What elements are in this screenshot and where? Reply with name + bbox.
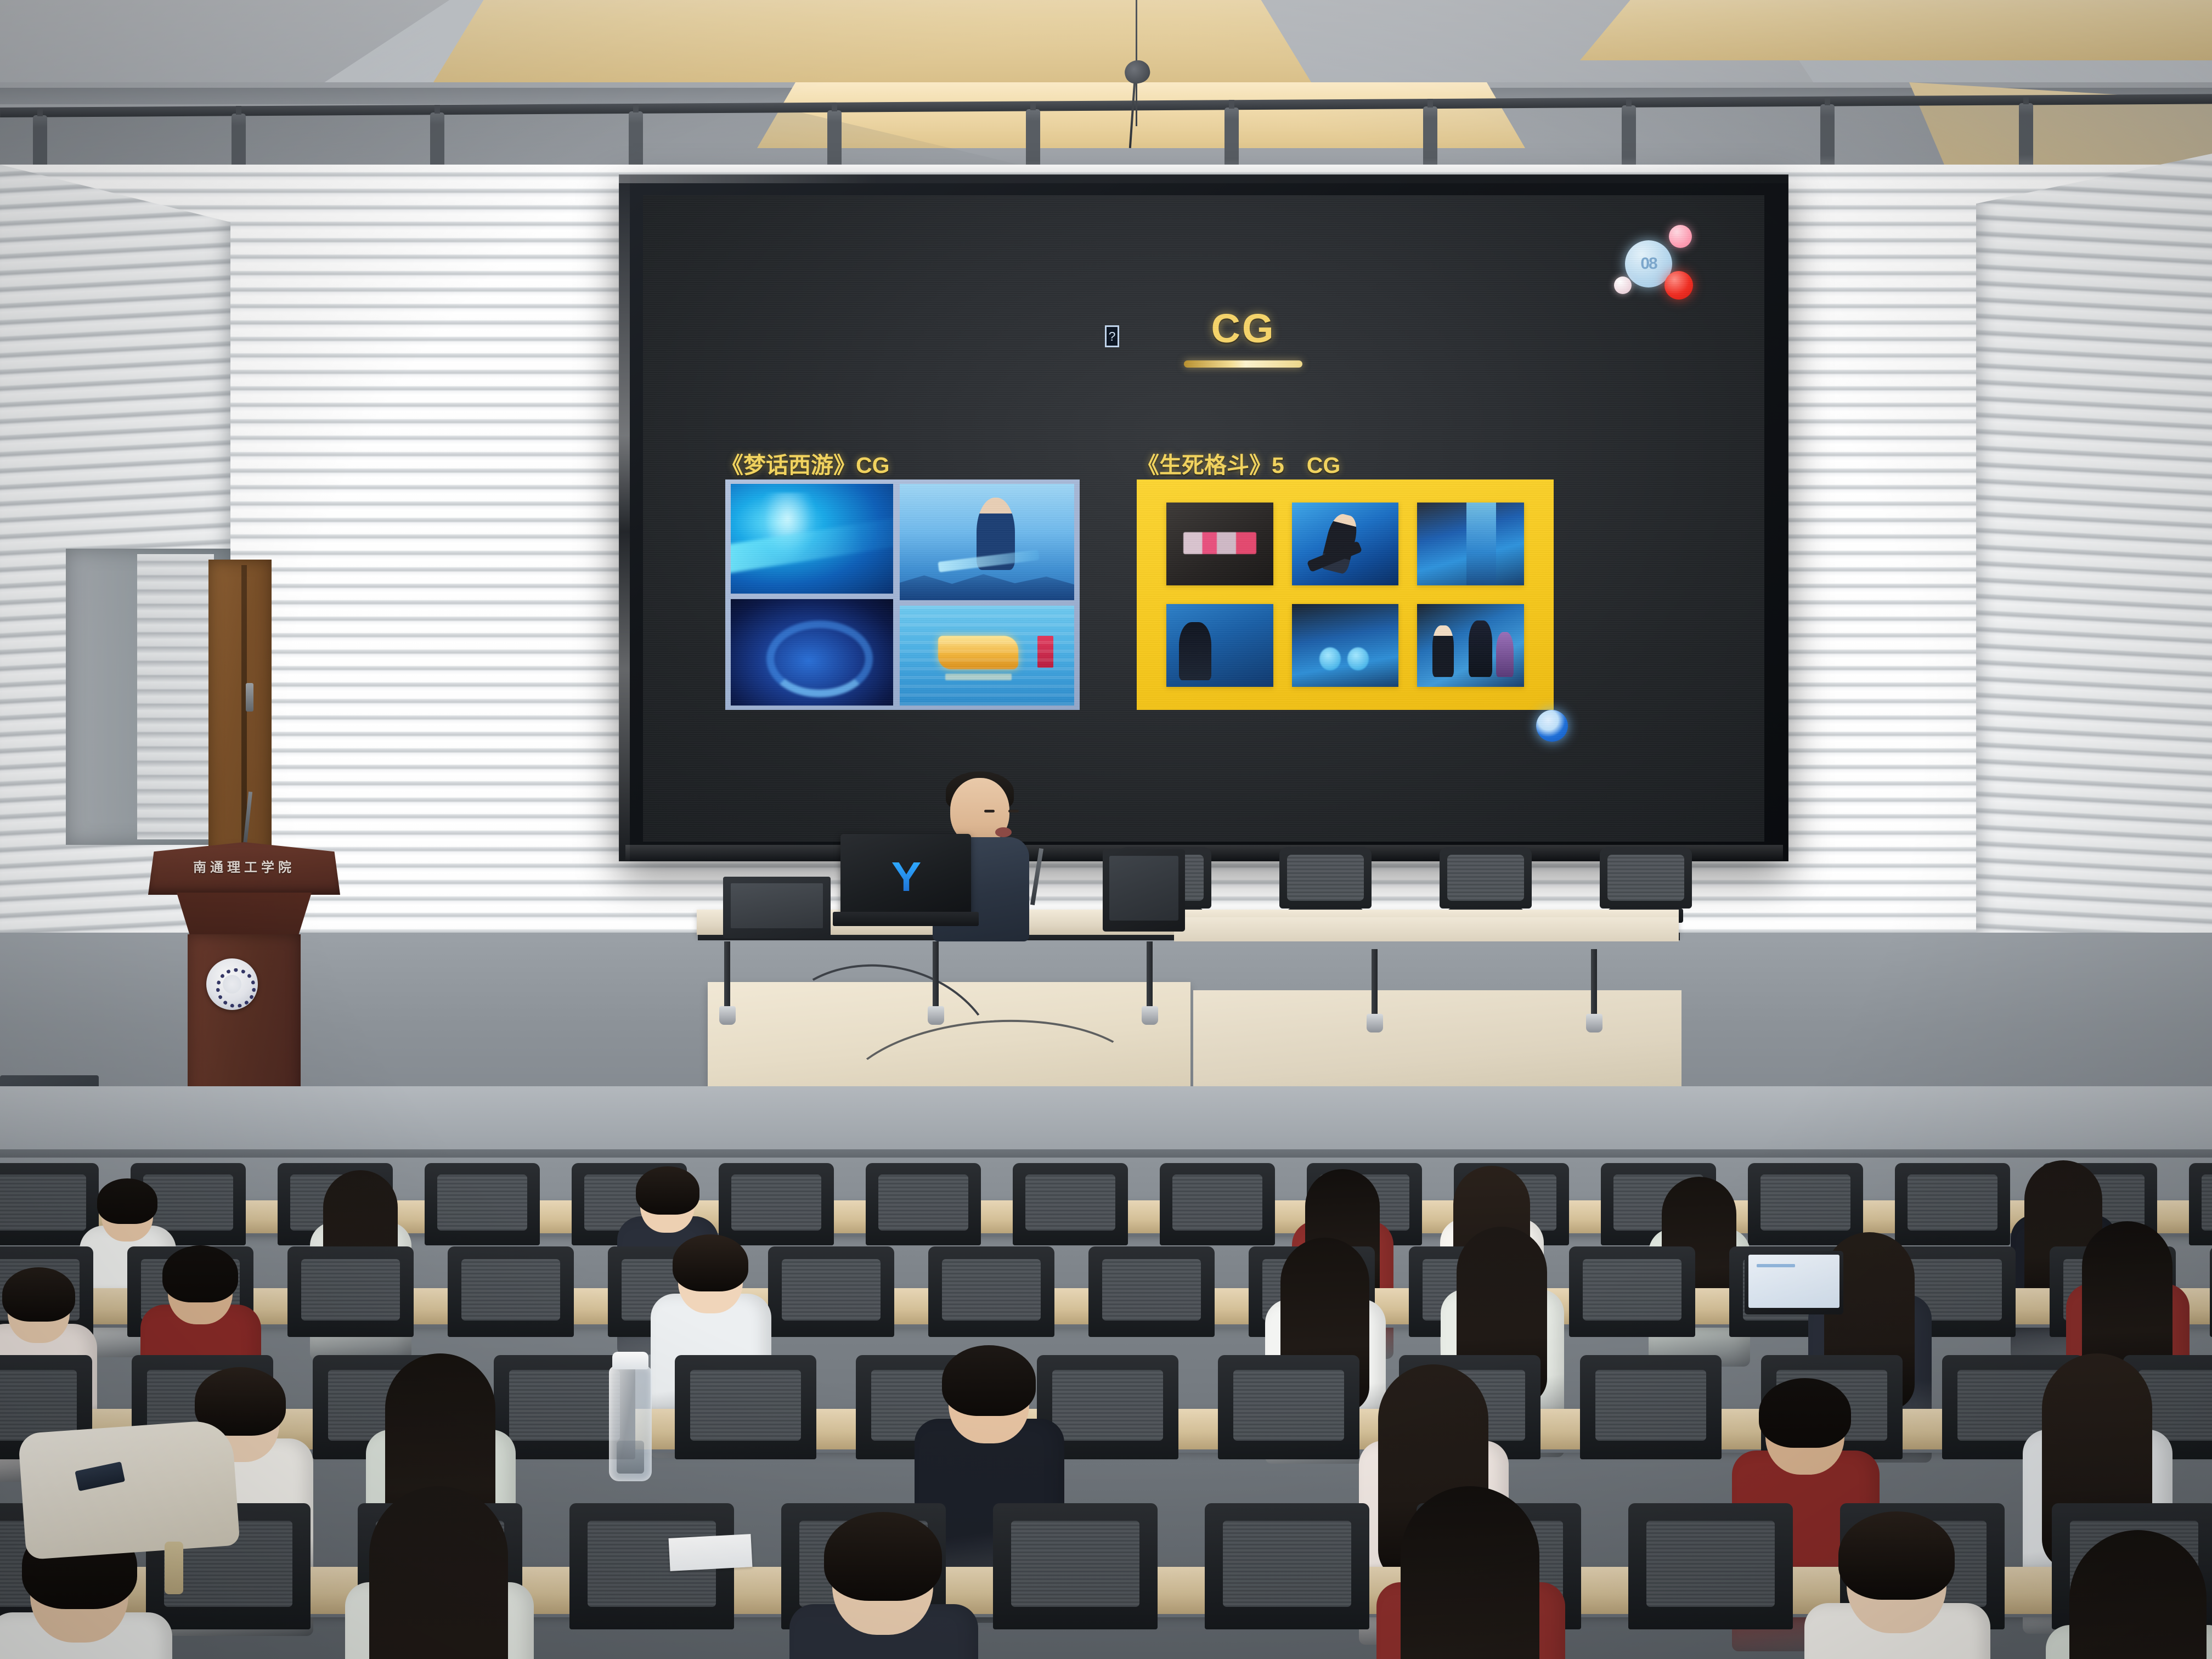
title-underline-rule — [1184, 360, 1302, 368]
panel-right-label: 《生死格斗》5 CG — [1137, 447, 1340, 479]
slide-panels: 《梦话西游》CG 《生死格斗》5 CG — [643, 451, 1764, 736]
desk-leg-1 — [724, 941, 730, 1007]
legion-laptop[interactable] — [840, 834, 971, 926]
corner-dot-icon — [1536, 710, 1568, 742]
presenter-eye-left — [984, 810, 995, 812]
desk-caster-4 — [1367, 1014, 1383, 1032]
laptop-lid — [840, 834, 971, 913]
cove-light-c — [1580, 0, 2212, 60]
audience-person — [1372, 1481, 1568, 1659]
person-hair — [1838, 1511, 1955, 1599]
thumb-swordsman-on-cliff — [900, 484, 1074, 600]
tablet-screen — [1745, 1251, 1843, 1314]
audience-chair — [1580, 1355, 1722, 1459]
stage-chair-mesh — [1287, 855, 1364, 901]
audience-chair — [2210, 1246, 2212, 1337]
audience-chair — [448, 1246, 574, 1337]
spotlight-7 — [1224, 108, 1239, 173]
audience-person — [340, 1481, 537, 1659]
thumb-glowing-orbs — [1292, 604, 1399, 687]
secondary-laptop[interactable] — [723, 877, 831, 938]
audience-chair — [287, 1246, 414, 1337]
audience-chair — [1013, 1163, 1128, 1245]
coat-tag — [165, 1542, 183, 1594]
desk-caster-5 — [1586, 1014, 1602, 1032]
slide-title-wrap: CG — [1184, 305, 1302, 368]
stage-chair-mesh — [1607, 855, 1684, 901]
bubble-red-icon — [1664, 271, 1693, 300]
desk-leg-5 — [1591, 949, 1597, 1015]
audience-chair — [866, 1163, 981, 1245]
thumb-orb-left — [1319, 647, 1341, 670]
person-hair — [2, 1267, 75, 1322]
panel-left — [725, 479, 1080, 710]
presenter-desk-top-right — [1174, 917, 1679, 941]
thumb-rock-shape — [900, 570, 1074, 600]
thumb-logo-subtitle — [945, 674, 1012, 681]
audience-chair — [768, 1246, 894, 1337]
bubble-white-icon — [1614, 276, 1632, 294]
thumb-dark-dragon-lair — [731, 599, 893, 706]
desk-caster-3 — [1142, 1006, 1158, 1025]
audience-chair — [1088, 1246, 1215, 1337]
person-hair — [942, 1345, 1036, 1416]
desk-leg-2 — [933, 941, 939, 1007]
person-hair — [824, 1512, 942, 1601]
audience-person — [785, 1503, 981, 1659]
thumb-blue-corridor — [1417, 503, 1524, 585]
lecture-hall-scene: 08 ? CG 《梦话西游》CG — [0, 0, 2212, 1659]
stage-chair-mesh — [1447, 855, 1524, 901]
presentation-slide: 08 ? CG 《梦话西游》CG — [643, 195, 1764, 842]
desk-leg-3 — [1147, 941, 1153, 1007]
person-hair — [1759, 1378, 1851, 1448]
person-long-hair — [1401, 1486, 1539, 1659]
spotlight-10 — [1820, 104, 1835, 170]
person-hair — [636, 1166, 699, 1214]
person-long-hair — [2069, 1530, 2206, 1659]
water-bottle — [609, 1366, 652, 1481]
stage-desk-panel-right — [1193, 990, 1681, 1097]
audience-person — [1799, 1503, 1994, 1659]
slide-title: CG — [1211, 305, 1276, 352]
thumb-ice-mage-casting — [731, 484, 893, 594]
podium-institution-text: 南通理工学院 — [148, 856, 340, 876]
screen-top-highlight — [619, 174, 1788, 183]
thumb-game-logo — [938, 636, 1018, 670]
audience-person — [2041, 1525, 2212, 1659]
audience-chair — [993, 1503, 1158, 1629]
podium-neck — [177, 893, 312, 936]
missing-glyph-box: ? — [1105, 325, 1119, 347]
audience-chair — [1160, 1163, 1275, 1245]
person-long-hair — [369, 1486, 508, 1659]
desk-caster-2 — [928, 1006, 944, 1025]
cove-light-a — [433, 0, 1311, 82]
audience-chair — [425, 1163, 540, 1245]
person-hair — [97, 1178, 157, 1224]
thumb-title-wordmark — [1166, 503, 1273, 585]
paper-sheet — [669, 1534, 753, 1571]
led-screen: 08 ? CG 《梦话西游》CG — [643, 195, 1764, 842]
university-seal-icon — [206, 958, 258, 1010]
stage-monitor — [1103, 849, 1185, 932]
thumb-orb-right — [1347, 647, 1369, 670]
spotlight-8 — [1423, 106, 1437, 172]
presenter-eye-right — [1008, 810, 1019, 812]
person-hair — [162, 1245, 238, 1302]
thumb-silhouette-fight — [1166, 604, 1273, 687]
screen-bezel-highlight — [619, 174, 630, 861]
slide-title-row: ? CG — [643, 305, 1764, 368]
audience-chair — [675, 1355, 816, 1459]
audience-chair — [1218, 1355, 1359, 1459]
audience-chair — [1628, 1503, 1793, 1629]
thumb-silhouette-shape — [1179, 622, 1211, 680]
thumb-pillar-shape — [1466, 503, 1497, 585]
wall-recess-inner — [137, 554, 214, 839]
side-door[interactable] — [208, 560, 272, 856]
desk-caster-1 — [719, 1006, 736, 1025]
door-handle[interactable] — [246, 683, 253, 712]
folded-coat — [18, 1419, 240, 1560]
audience-chair — [2189, 1163, 2212, 1245]
thumb-fighter-c — [1496, 632, 1513, 677]
audience-chair — [1569, 1246, 1695, 1337]
laptop-base — [833, 912, 979, 926]
audience-chair — [1205, 1503, 1369, 1629]
panel-right — [1137, 479, 1554, 710]
bubble-decoration: 08 — [1612, 224, 1705, 306]
thumb-wordmark-shape — [1183, 532, 1256, 554]
lectern-podium: 南通理工学院 — [148, 842, 340, 1127]
spotlight-9 — [1622, 105, 1636, 171]
presenter-mouth — [995, 827, 1012, 837]
bubble-pink-icon — [1669, 225, 1692, 248]
spotlight-11 — [2019, 103, 2033, 169]
audience-chair — [928, 1246, 1054, 1337]
thumb-fighter-a — [1432, 625, 1454, 677]
thumb-game-logo-card — [900, 606, 1074, 706]
thumb-three-fighters — [1417, 604, 1524, 687]
right-wall-angled — [1976, 154, 2212, 988]
thumb-logo-badge — [1037, 636, 1053, 668]
person-hair — [673, 1234, 748, 1291]
thumb-fighter-b — [1469, 620, 1492, 677]
stage-front-face — [0, 1086, 2212, 1158]
thumb-flying-kick — [1292, 503, 1399, 585]
desk-leg-4 — [1372, 949, 1378, 1015]
panel-left-label: 《梦话西游》CG — [721, 447, 890, 479]
